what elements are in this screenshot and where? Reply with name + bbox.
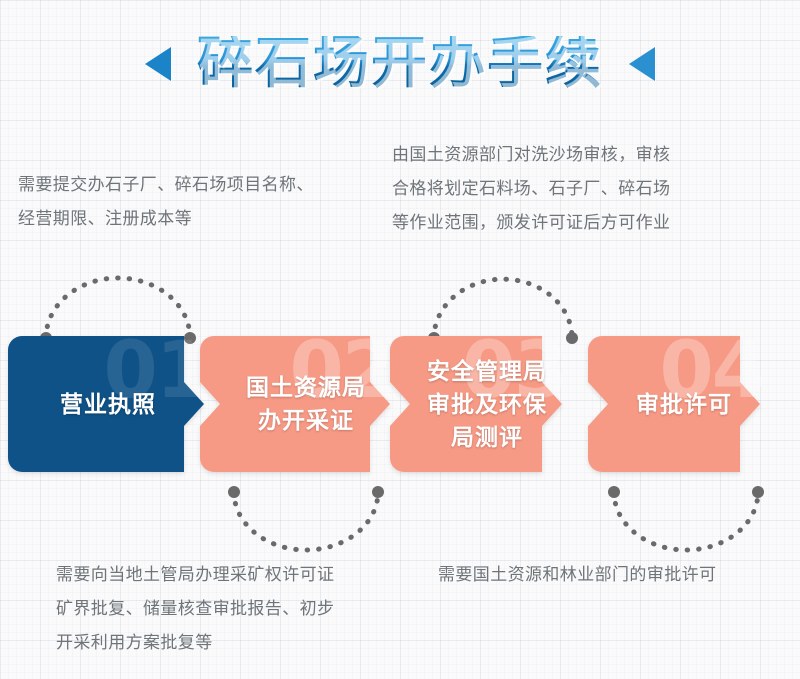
infographic-page: 碎石场开办手续 需要提交办石子厂、碎石场项目名称、 经营期限、注册成本等 由国土… bbox=[0, 0, 800, 679]
step-label-1: 营业执照 bbox=[54, 388, 162, 421]
title-band: 碎石场开办手续 bbox=[0, 18, 800, 110]
description-top-right: 由国土资源部门对洗沙场审核，审核 合格将划定石料场、石子厂、碎石场 等作业范围，… bbox=[392, 138, 752, 240]
step-label-2: 国土资源局 办开采证 bbox=[240, 371, 372, 437]
arc-bottom-step2 bbox=[222, 484, 392, 564]
triangle-left-icon-right bbox=[629, 47, 655, 81]
arc-bottom-step4 bbox=[602, 484, 772, 564]
page-title: 碎石场开办手续 bbox=[197, 36, 603, 92]
triangle-left-icon-left bbox=[145, 47, 171, 81]
description-bottom-left: 需要向当地土管局办理采矿权许可证 矿界批复、储量核查审批报告、初步 开采利用方案… bbox=[56, 558, 406, 660]
process-step-3[interactable]: 03 安全管理局 审批及环保 局测评 bbox=[390, 336, 580, 472]
process-flow: 01 营业执照 02 国土资源局 办开采证 03 安全管理局 审批及环保 局测评 bbox=[0, 336, 800, 472]
process-step-2[interactable]: 02 国土资源局 办开采证 bbox=[200, 336, 408, 472]
process-step-4[interactable]: 04 审批许可 bbox=[588, 336, 778, 472]
description-top-left: 需要提交办石子厂、碎石场项目名称、 经营期限、注册成本等 bbox=[18, 168, 378, 236]
step-label-4: 审批许可 bbox=[630, 388, 738, 421]
process-step-1[interactable]: 01 营业执照 bbox=[8, 336, 222, 472]
step-label-3: 安全管理局 审批及环保 局测评 bbox=[421, 355, 553, 454]
